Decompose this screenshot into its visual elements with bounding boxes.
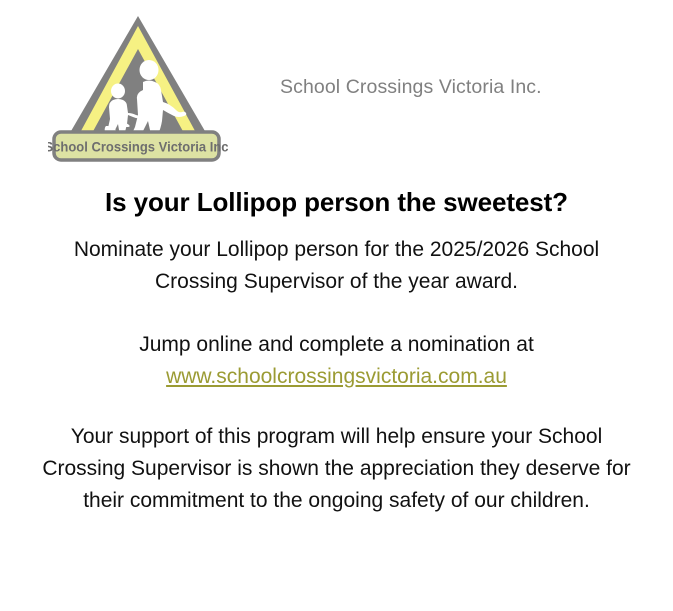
jump-online-text: Jump online and complete a nomination at — [139, 333, 534, 356]
main-content: Is your Lollipop person the sweetest? No… — [0, 186, 673, 517]
website-link[interactable]: www.schoolcrossingsvictoria.com.au — [166, 365, 507, 388]
paragraph-spacer-1 — [0, 298, 673, 329]
support-paragraph: Your support of this program will help e… — [0, 421, 673, 517]
organisation-name: School Crossings Victoria Inc. — [280, 76, 542, 99]
jump-online-paragraph: Jump online and complete a nomination at… — [0, 329, 673, 393]
nomination-paragraph: Nominate your Lollipop person for the 20… — [0, 234, 673, 298]
header-area: School Crossings Victoria Inc School Cro… — [0, 0, 673, 180]
logo-banner-text: School Crossings Victoria Inc — [48, 139, 228, 155]
page-title: Is your Lollipop person the sweetest? — [0, 186, 673, 220]
school-crossings-victoria-logo: School Crossings Victoria Inc — [48, 10, 228, 165]
paragraph-spacer-2 — [0, 392, 673, 421]
